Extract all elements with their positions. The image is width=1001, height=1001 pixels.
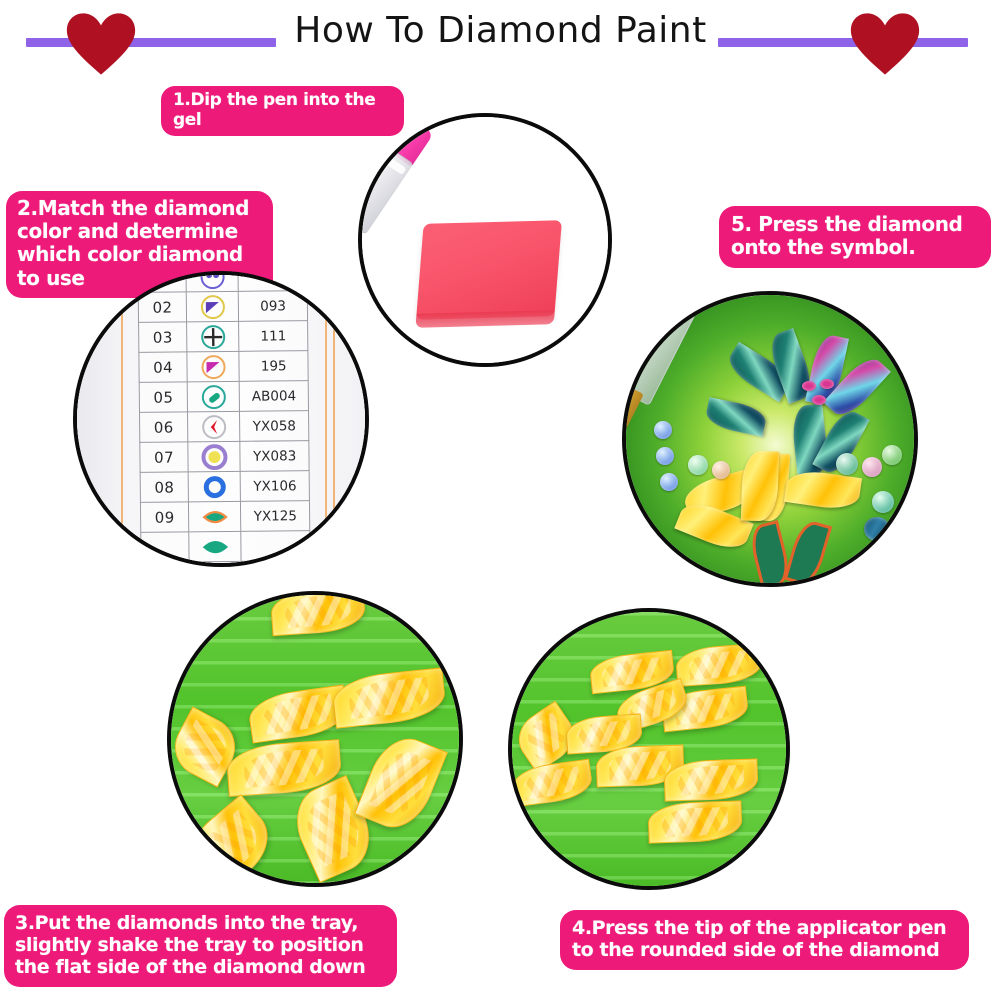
tilted-capsule-icon — [187, 381, 240, 412]
color-chart-code: 028 — [238, 271, 307, 291]
color-chart-number: 03 — [139, 322, 187, 353]
gel-pad — [416, 220, 562, 320]
step-1-photo — [358, 113, 612, 367]
color-chart-code — [241, 531, 310, 562]
left-chevron-icon — [188, 411, 241, 442]
leaf-icon — [189, 531, 242, 562]
filled-triangle-icon — [187, 351, 240, 382]
color-chart-number — [138, 271, 186, 292]
color-chart-code: 111 — [239, 321, 308, 352]
color-chart-row: 09YX125 — [140, 501, 309, 533]
step-3-photo — [167, 591, 463, 887]
color-chart-number: 07 — [140, 442, 188, 473]
page-header: How To Diamond Paint — [0, 0, 1001, 72]
color-chart-number: 08 — [140, 472, 188, 503]
color-chart-code: 195 — [239, 351, 308, 382]
color-chart-code: YX058 — [240, 411, 309, 442]
color-chart-row: 02093 — [138, 291, 307, 323]
step-4-label: 4.Press the tip of the applicator pen to… — [560, 910, 969, 970]
double-dot-icon — [186, 271, 239, 292]
color-chart-number: 09 — [140, 502, 188, 533]
color-chart-row: 06YX058 — [140, 411, 309, 443]
color-chart-row: 03111 — [139, 321, 308, 353]
color-chart-number: 06 — [140, 412, 188, 443]
color-chart-code: YX125 — [241, 501, 310, 532]
step-5-label: 5. Press the diamond onto the symbol. — [719, 206, 991, 268]
filled-triangle-icon — [186, 291, 239, 322]
step-4-photo — [508, 608, 790, 890]
infographic-canvas: How To Diamond Paint 1.Dip the pen into … — [0, 0, 1001, 1001]
plus-icon — [187, 321, 240, 352]
color-chart-code: YX106 — [240, 471, 309, 502]
dot-in-ring-icon — [188, 441, 241, 472]
color-chart-code: YX083 — [240, 441, 309, 472]
step-2-photo: 02802093031110419505AB00406YX05807YX0830… — [73, 271, 369, 567]
color-chart-number: 02 — [138, 292, 186, 323]
mandala-canvas — [626, 295, 914, 583]
color-chart-code: 093 — [239, 291, 308, 322]
color-chart-row: 08YX106 — [140, 471, 309, 503]
color-chart-row — [141, 531, 310, 563]
leaf-icon — [189, 501, 242, 532]
color-chart-row: 07YX083 — [140, 441, 309, 473]
color-chart-code: AB004 — [240, 381, 309, 412]
color-chart-number: 04 — [139, 352, 187, 383]
color-chart-row: 04195 — [139, 351, 308, 383]
color-chart-row: 028 — [138, 271, 307, 292]
step-5-photo — [622, 291, 918, 587]
step-3-label: 3.Put the diamonds into the tray, slight… — [4, 905, 397, 987]
color-chart-number: 05 — [139, 382, 187, 413]
color-chart-row: 05AB004 — [139, 381, 308, 413]
page-title: How To Diamond Paint — [0, 10, 1001, 51]
color-symbol-chart: 02802093031110419505AB00406YX05807YX0830… — [137, 271, 310, 563]
ring-icon — [188, 471, 241, 502]
color-chart-number — [141, 532, 189, 563]
